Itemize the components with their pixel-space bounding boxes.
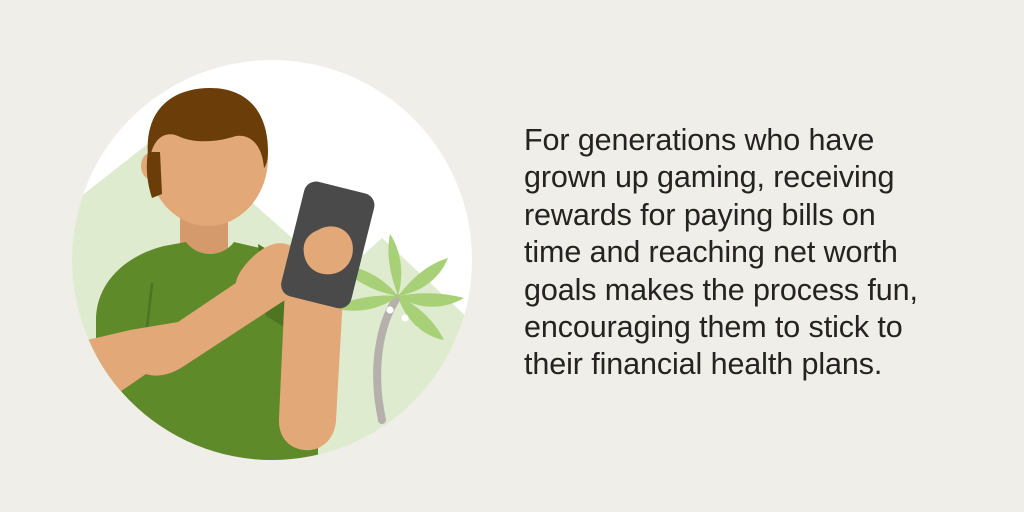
quote-text: For generations who have grown up gaming… (524, 122, 964, 384)
palm-coconut-left (386, 306, 393, 313)
quote-card: For generations who have grown up gaming… (0, 0, 1024, 512)
illustration-svg (60, 48, 484, 472)
quote-block: For generations who have grown up gaming… (524, 122, 964, 384)
illustration (60, 48, 484, 472)
palm-coconut-right (401, 314, 408, 321)
